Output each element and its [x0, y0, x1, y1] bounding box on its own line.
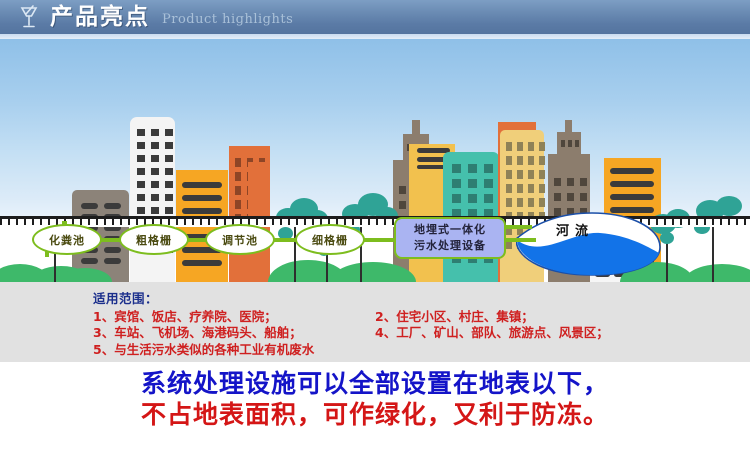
equipment-box[interactable]: 地埋式一体化 污水处理设备 [394, 217, 506, 259]
flow-node-label: 化粪池 [49, 232, 85, 248]
scope-item-4: 4、工厂、矿山、部队、旅游点、风景区； [375, 322, 609, 341]
pipe-equipment-river [506, 238, 536, 242]
illustration-scene: 河流 化粪池 粗格栅 调节池 细格栅 地埋式一体化 污水处理设备 [0, 39, 750, 282]
building-brown-right-top [557, 132, 581, 154]
scope-item-5: 5、与生活污水类似的各种工业有机废水 [93, 339, 314, 358]
pipe-equipment-river-upper [506, 225, 532, 229]
page-title: 产品亮点 [50, 6, 150, 29]
page-subtitle: Product highlights [162, 12, 293, 27]
building-brown-spire [412, 120, 420, 134]
applicable-scope-title: 适用范围： [93, 288, 158, 307]
flow-node-tiaojiechi[interactable]: 调节池 [205, 224, 275, 255]
flow-node-label: 粗格栅 [136, 232, 172, 248]
headline-line-1: 系统处理设施可以全部设置在地表以下， [0, 368, 750, 399]
river-label: 河流 [556, 220, 594, 239]
bottom-headline: 系统处理设施可以全部设置在地表以下， 不占地表面积，可作绿化，又利于防冻。 [0, 368, 750, 431]
headline-line-2: 不占地表面积，可作绿化，又利于防冻。 [0, 399, 750, 430]
building-brown-right-spire [565, 120, 572, 132]
flow-node-huafenchi[interactable]: 化粪池 [32, 224, 102, 255]
building-white-tower [130, 117, 175, 282]
equipment-line-1: 地埋式一体化 [414, 222, 486, 238]
flow-node-xigeshan[interactable]: 细格栅 [295, 224, 365, 255]
equipment-line-2: 污水处理设备 [414, 238, 486, 254]
page-header: 产品亮点 Product highlights [0, 0, 750, 34]
pipe-n4-equipment [364, 238, 394, 242]
flow-node-label: 调节池 [222, 232, 258, 248]
product-highlights-page: 产品亮点 Product highlights [0, 0, 750, 457]
goblet-icon [14, 2, 44, 32]
hill [684, 264, 750, 282]
flow-node-label: 细格栅 [312, 232, 348, 248]
flow-node-cugeshan[interactable]: 粗格栅 [119, 224, 189, 255]
